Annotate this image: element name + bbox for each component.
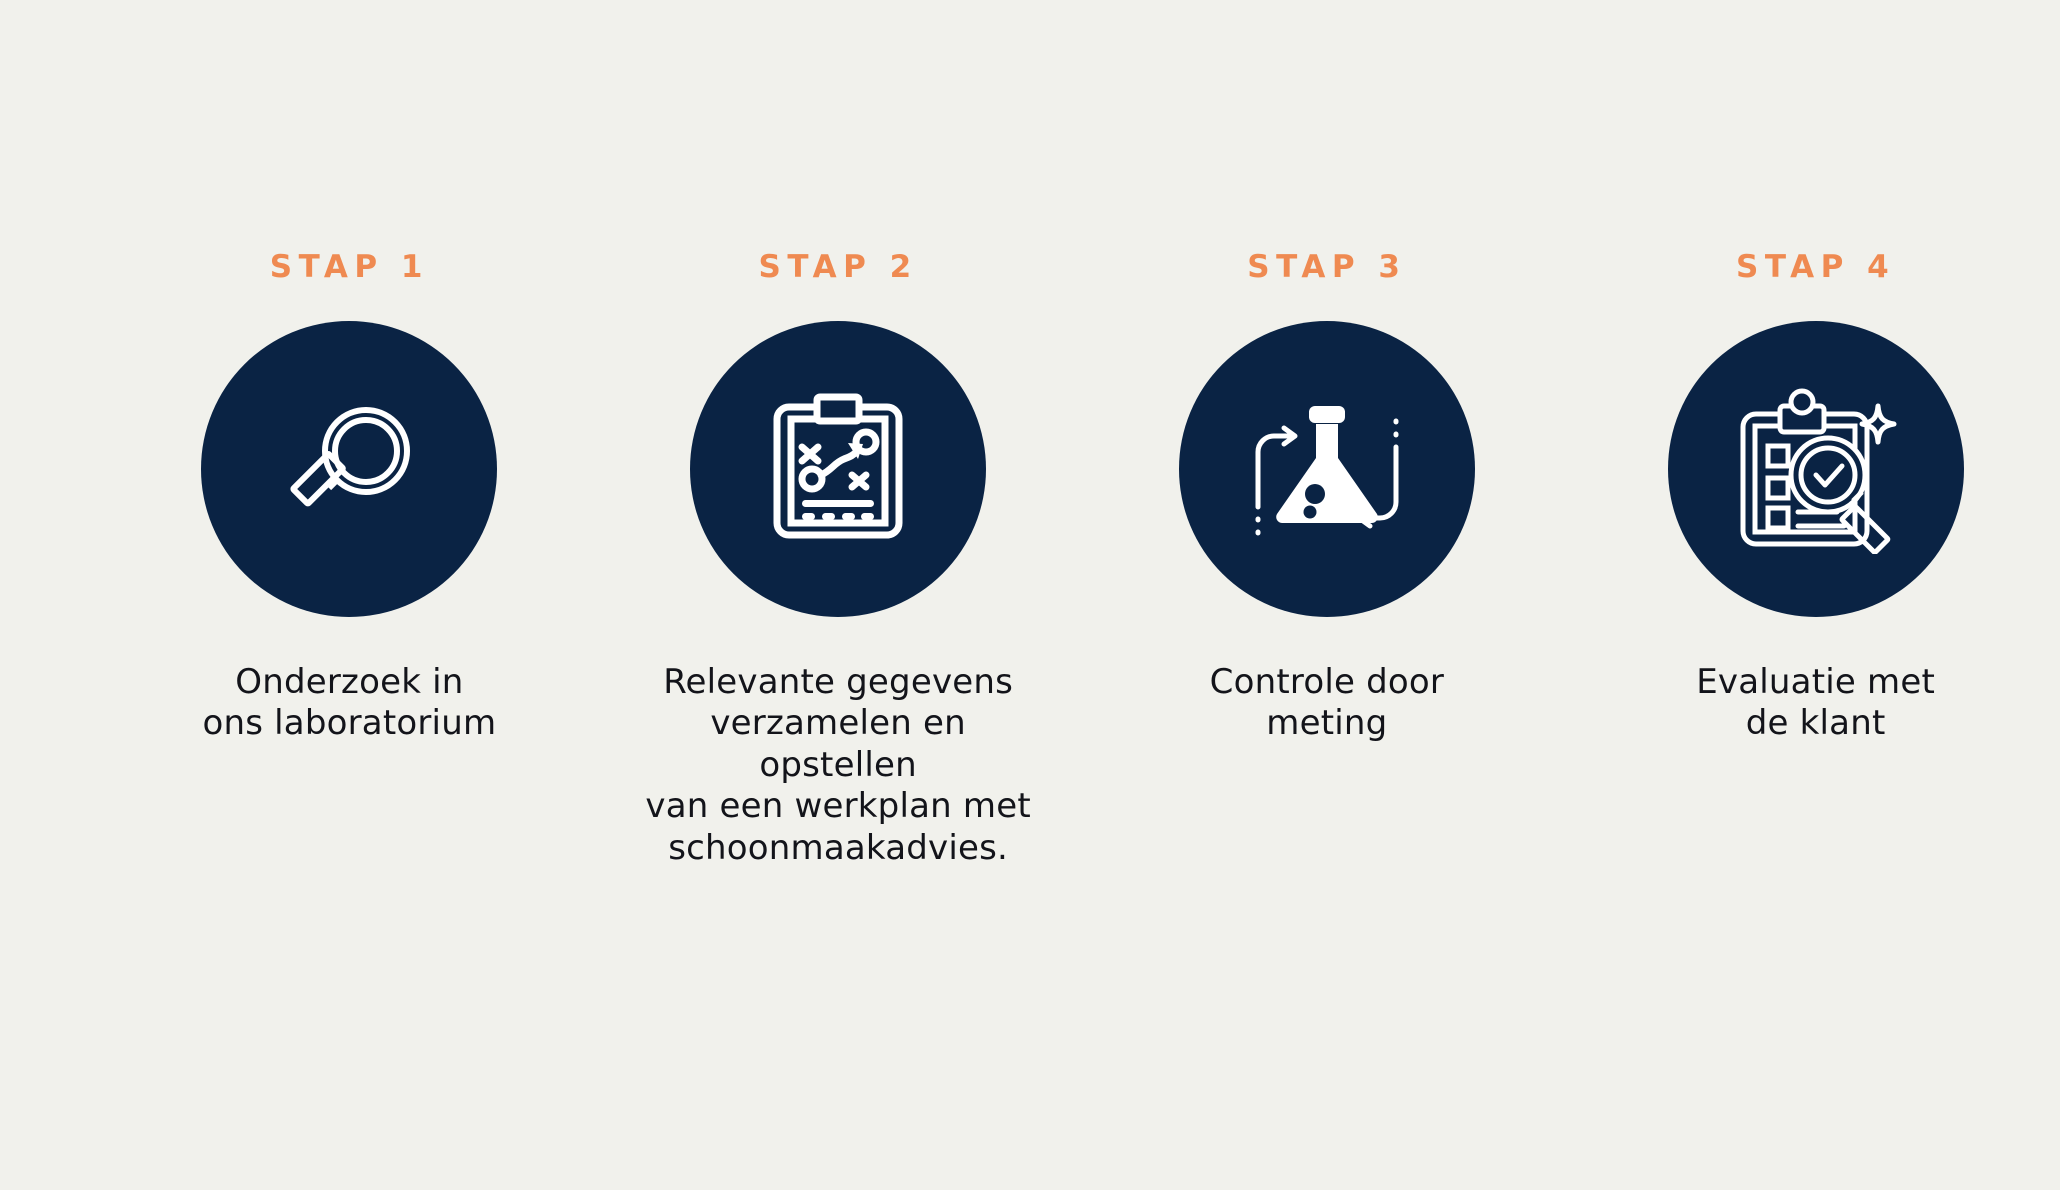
step-card-2: STAP 2 xyxy=(594,0,1083,869)
step-caption-1: Onderzoek in ons laboratorium xyxy=(184,662,514,745)
strategy-clipboard-icon xyxy=(756,387,920,551)
step-caption-3: Controle door meting xyxy=(1162,662,1492,745)
step-icon-circle-1 xyxy=(201,321,497,617)
clipboard-check-inspect-icon xyxy=(1731,384,1901,554)
step-label-2: STAP 2 xyxy=(759,252,918,283)
step-icon-circle-2 xyxy=(690,321,986,617)
step-icon-circle-3 xyxy=(1179,321,1475,617)
step-caption-4: Evaluatie met de klant xyxy=(1651,662,1981,745)
step-card-3: STAP 3 xyxy=(1083,0,1572,745)
step-card-1: STAP 1 Onderzoek in ons laboratorium xyxy=(105,0,594,745)
flask-cycle-icon xyxy=(1244,386,1410,552)
steps-row: STAP 1 Onderzoek in ons laboratorium STA… xyxy=(0,0,2060,1190)
step-label-4: STAP 4 xyxy=(1736,252,1895,283)
step-card-4: STAP 4 xyxy=(1571,0,2060,745)
step-label-1: STAP 1 xyxy=(270,252,429,283)
step-label-3: STAP 3 xyxy=(1247,252,1406,283)
step-icon-circle-4 xyxy=(1668,321,1964,617)
magnifying-glass-icon xyxy=(269,389,429,549)
infographic-board: STAP 1 Onderzoek in ons laboratorium STA… xyxy=(0,0,2060,1190)
step-caption-2: Relevante gegevens verzamelen en opstell… xyxy=(638,662,1038,869)
